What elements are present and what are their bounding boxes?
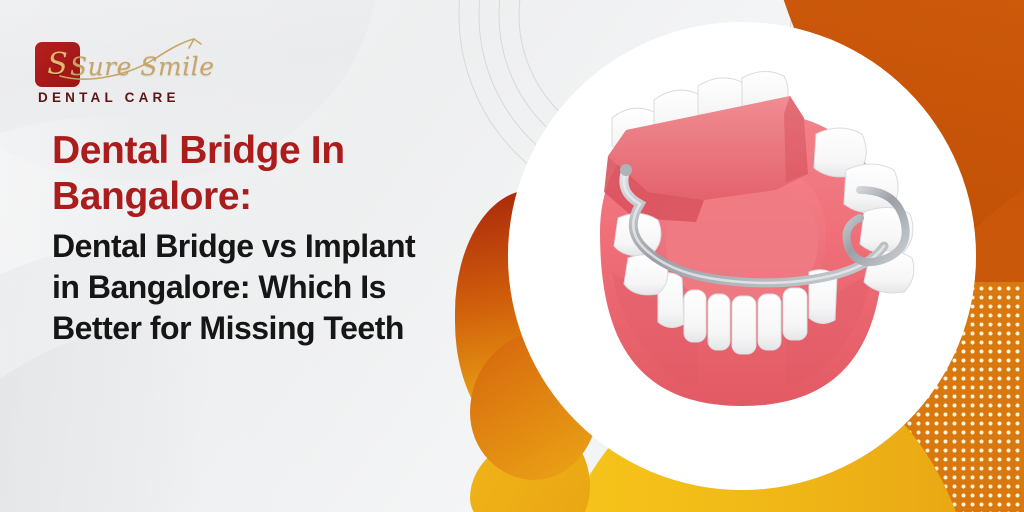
subheadline-line-3: Better for Missing Teeth [52, 308, 522, 349]
logo-subtitle: DENTAL CARE [38, 90, 180, 105]
page-title: Dental Bridge In Bangalore: [52, 128, 522, 219]
banner-root: S Sure Smile DENTAL CARE Dental Bridge I… [0, 0, 1024, 512]
subheadline-line-1: Dental Bridge vs Implant [52, 226, 522, 267]
brand-logo[interactable]: S Sure Smile DENTAL CARE [28, 32, 208, 110]
dental-model-photo-circle [508, 22, 976, 490]
headline-line-2: Bangalore: [52, 174, 522, 220]
headline-line-1: Dental Bridge In [52, 128, 522, 174]
page-subtitle: Dental Bridge vs Implant in Bangalore: W… [52, 226, 522, 349]
subheadline-line-2: in Bangalore: Which Is [52, 267, 522, 308]
logo-script-text: Sure Smile [70, 52, 215, 81]
dental-model-illustration [508, 22, 976, 490]
